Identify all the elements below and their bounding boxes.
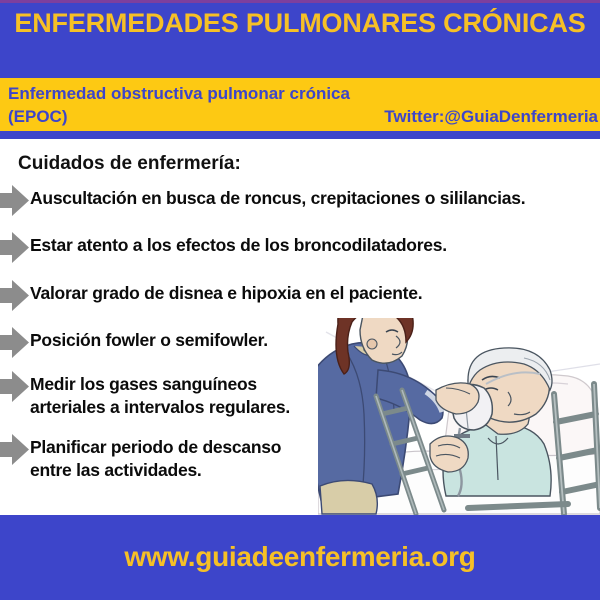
care-list-item-label: Estar atento a los efectos de los bronco… (30, 234, 447, 257)
care-list-item-label: Valorar grado de disnea e hipoxia en el … (30, 282, 422, 305)
care-list-item-label: Medir los gases sanguíneos arteriales a … (30, 373, 290, 419)
title-band: ENFERMEDADES PULMONARES CRÓNICAS (0, 0, 600, 78)
care-list-item-label: Posición fowler o semifowler. (30, 329, 268, 352)
poster-root: ENFERMEDADES PULMONARES CRÓNICAS Enferme… (0, 0, 600, 600)
arrow-right-icon (0, 232, 30, 263)
subtitle-disease-name: Enfermedad obstructiva pulmonar crónica … (8, 82, 358, 128)
arrow-right-icon (0, 434, 30, 465)
subtitle-band: Enfermedad obstructiva pulmonar crónica … (0, 78, 600, 131)
page-title: ENFERMEDADES PULMONARES CRÓNICAS (0, 7, 600, 39)
twitter-handle: Twitter:@GuiaDenfermeria (384, 105, 598, 128)
nurse-placing-oxygen-mask-on-patient-illustration (318, 318, 600, 518)
arrow-right-icon (0, 371, 30, 402)
arrow-right-icon (0, 327, 30, 358)
footer-band: www.guiadeenfermeria.org (0, 515, 600, 600)
top-hairline-divider (0, 0, 600, 3)
section-heading-nursing-care: Cuidados de enfermería: (18, 153, 241, 175)
arrow-right-icon (0, 280, 30, 311)
arrow-right-icon (0, 185, 30, 216)
care-list-item-label: Auscultación en busca de roncus, crepita… (30, 187, 525, 210)
subtitle-divider (0, 131, 600, 139)
website-url[interactable]: www.guiadeenfermeria.org (0, 541, 600, 573)
care-list-item-label: Planificar periodo de descanso entre las… (30, 436, 281, 482)
